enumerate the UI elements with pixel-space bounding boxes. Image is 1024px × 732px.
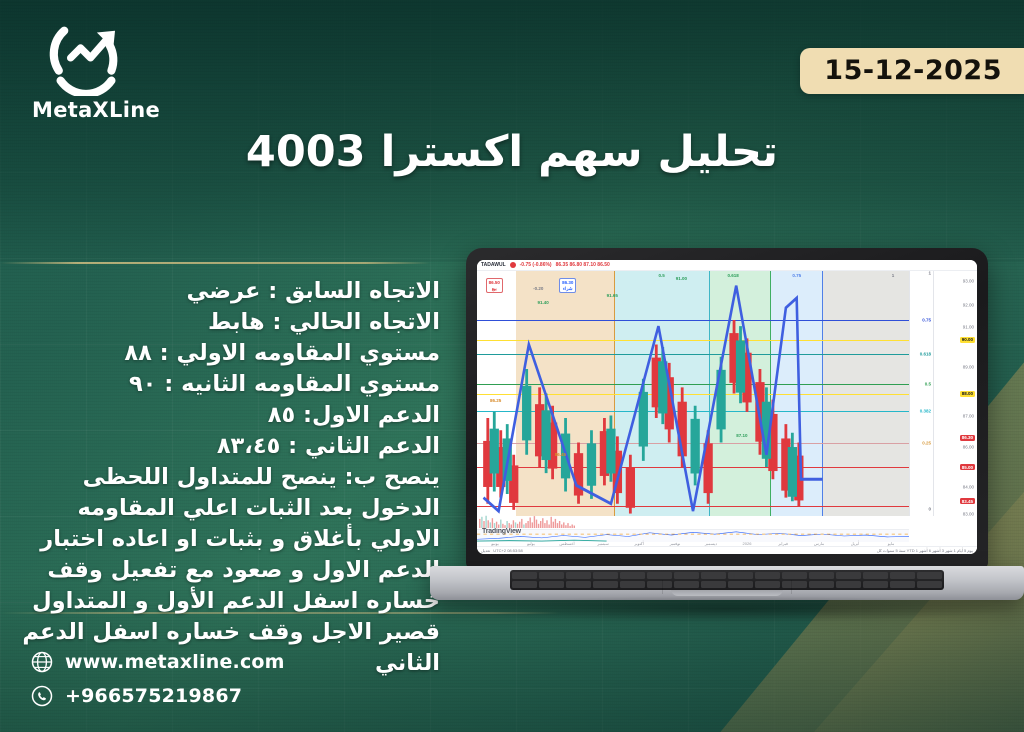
phone-text: +966575219867 xyxy=(65,685,242,707)
chart-header[interactable]: TADAWUL -0.75 (-0.86%) 86.35 86.80 87.10… xyxy=(477,260,977,271)
zone-label-0.75: 0.75 xyxy=(792,273,801,278)
price-tag-sell-label: بيع xyxy=(489,286,500,291)
analysis-line-resistance-2: مستوي المقاومه الثانيه : ٩٠ xyxy=(8,369,440,400)
footer-contact: www.metaxline.com +966575219867 xyxy=(30,650,285,708)
fib-label-0.618: 0.618 xyxy=(920,352,931,357)
price-tag-sell-value: 86.50 xyxy=(489,280,500,285)
zone-label-0.5: 0.5 xyxy=(658,273,664,278)
fib-label-1: 1 xyxy=(928,271,931,276)
price-tag-buy-label: شراء xyxy=(562,286,573,291)
chart-plot-area[interactable]: 91.40 91.65 87.10 86.25 86.45 91.00 0.5 … xyxy=(477,271,909,516)
price-tag-buy-value: 86.30 xyxy=(562,280,573,285)
analysis-text: الاتجاه السابق : عرضي الاتجاه الحالي : ه… xyxy=(8,276,440,679)
analysis-line-resistance-1: مستوي المقاومه الاولي : ٨٨ xyxy=(8,338,440,369)
analysis-line-current-trend: الاتجاه الحالي : هابط xyxy=(8,307,440,338)
price-tick-84: 84.00 xyxy=(963,484,974,489)
laptop-screen: TADAWUL -0.75 (-0.86%) 86.35 86.80 87.10… xyxy=(477,260,977,554)
price-badge-88[interactable]: 88.00 xyxy=(960,391,975,397)
zone-label-0.618: 0.618 xyxy=(728,273,739,278)
fib-label-0.5: 0.5 xyxy=(925,381,931,386)
price-scale[interactable]: 93.00 92.00 91.00 90.00 89.00 88.00 87.0… xyxy=(933,271,977,516)
status-range-selector[interactable]: يوم 5 أيام 1 شهر 3 أشهر 6 أشهر YTD 1 سنة… xyxy=(877,548,973,553)
globe-icon xyxy=(30,650,54,674)
status-edit-label[interactable]: تعديل xyxy=(481,548,490,553)
tradingview-watermark: TradingView xyxy=(482,528,521,535)
fib-label-0: 0 xyxy=(928,506,931,511)
chart-ohlc: 86.35 86.80 87.10 86.50 xyxy=(556,262,610,268)
analysis-line-support-2: الدعم الثاني : ٨٣،٤٥ xyxy=(8,431,440,462)
annotation-86-25: 86.25 xyxy=(490,398,501,403)
date-badge: 15-12-2025 xyxy=(800,48,1024,94)
metaxline-arrow-logo-icon xyxy=(40,18,132,96)
price-tick-93: 93.00 xyxy=(963,278,974,283)
analysis-recommendation: ينصح ب: ينصح للمتداول اللحظى الدخول بعد … xyxy=(8,462,440,679)
status-timezone[interactable]: UTC+2 08:53:58 xyxy=(493,548,522,553)
analysis-card: MetaXLine 15-12-2025 تحليل سهم اكسترا 40… xyxy=(0,0,1024,732)
price-badge-83-45[interactable]: 83.45 xyxy=(960,498,975,504)
contact-website[interactable]: www.metaxline.com xyxy=(30,650,285,674)
page-title: تحليل سهم اكسترا 4003 xyxy=(0,127,1024,177)
contact-phone[interactable]: +966575219867 xyxy=(30,684,285,708)
analysis-line-prev-trend: الاتجاه السابق : عرضي xyxy=(8,276,440,307)
laptop-shadow xyxy=(440,596,1014,622)
chart-status-bar[interactable]: تعديل UTC+2 08:53:58 يوم 5 أيام 1 شهر 3 … xyxy=(477,546,977,554)
price-tag-buy[interactable]: 86.30 شراء xyxy=(559,278,576,292)
price-tick-92: 92.00 xyxy=(963,303,974,308)
price-tick-89: 89.00 xyxy=(963,364,974,369)
minimap-line xyxy=(477,532,909,539)
annotation-86-45: 86.45 xyxy=(555,452,566,457)
price-tag-change: -0.20 xyxy=(533,286,543,291)
price-tick-86: 86.00 xyxy=(963,445,974,450)
price-tick-91: 91.00 xyxy=(963,325,974,330)
price-tick-83: 83.00 xyxy=(963,511,974,516)
brand-name: MetaXLine xyxy=(28,98,168,122)
price-tick-87: 87.00 xyxy=(963,413,974,418)
annotation-91-65: 91.65 xyxy=(607,293,618,298)
laptop-mockup: TADAWUL -0.75 (-0.86%) 86.35 86.80 87.10… xyxy=(430,248,1024,648)
fib-label-0.25: 0.25 xyxy=(922,440,931,445)
volume-histogram xyxy=(477,514,617,528)
divider-gold-top xyxy=(0,262,430,264)
chart-change: -0.75 (-0.86%) xyxy=(520,262,552,268)
laptop-trackpad xyxy=(662,580,792,594)
chart-symbol[interactable]: TADAWUL xyxy=(481,262,506,268)
brand-logo[interactable]: MetaXLine xyxy=(28,18,168,122)
annotation-91-00: 91.00 xyxy=(676,276,687,281)
annotation-91-40: 91.40 xyxy=(537,300,548,305)
price-badge-90[interactable]: 90.00 xyxy=(960,337,975,343)
price-badge-85[interactable]: 85.00 xyxy=(960,464,975,470)
fibonacci-scale[interactable]: 1 0.75 0.618 0.5 0.382 0.25 0 xyxy=(909,271,933,516)
price-tag-sell[interactable]: 86.50 بيع xyxy=(486,278,503,292)
alert-icon xyxy=(510,262,516,268)
candlestick-series xyxy=(477,271,909,516)
price-badge-86-30[interactable]: 86.30 xyxy=(960,435,975,441)
zone-label-1: 1 xyxy=(892,273,895,278)
tradingview-chart[interactable]: TADAWUL -0.75 (-0.86%) 86.35 86.80 87.10… xyxy=(477,260,977,554)
fib-label-0.382: 0.382 xyxy=(920,408,931,413)
fib-label-0.75: 0.75 xyxy=(922,318,931,323)
annotation-87-10: 87.10 xyxy=(736,433,747,438)
laptop-lid: TADAWUL -0.75 (-0.86%) 86.35 86.80 87.10… xyxy=(466,248,988,568)
website-text: www.metaxline.com xyxy=(65,651,285,673)
analysis-line-support-1: الدعم الاول: ٨٥ xyxy=(8,400,440,431)
whatsapp-icon xyxy=(30,684,54,708)
